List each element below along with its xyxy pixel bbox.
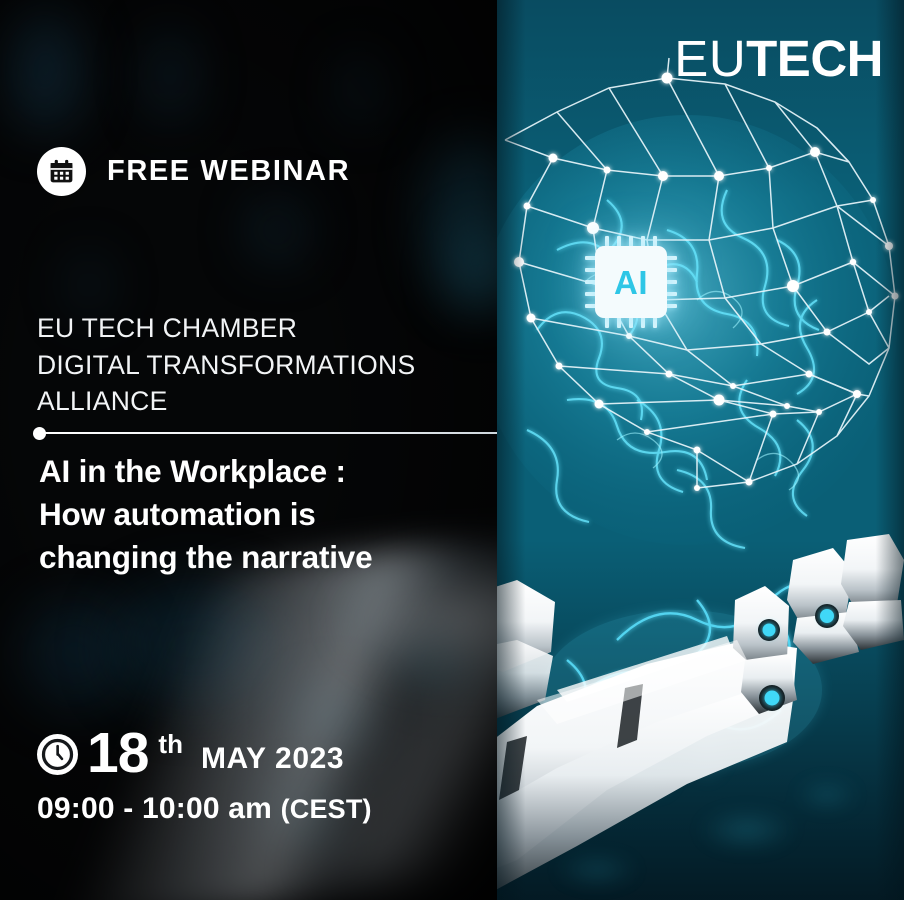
left-panel: FREE WEBINAR EU TECH CHAMBER DIGITAL TRA… <box>0 0 497 900</box>
organizer-line-2: DIGITAL TRANSFORMATIONS <box>37 347 415 384</box>
title-divider <box>33 425 497 441</box>
ai-microchip-icon: AI <box>585 236 677 328</box>
title-line-3: changing the narrative <box>39 536 372 579</box>
event-day-suffix: th <box>158 731 183 757</box>
divider-line <box>45 432 497 434</box>
event-timezone: (CEST) <box>281 794 372 824</box>
title-line-1: AI in the Workplace : <box>39 450 372 493</box>
free-webinar-label: FREE WEBINAR <box>107 155 350 188</box>
page-title: AI in the Workplace : How automation is … <box>39 450 372 579</box>
organizer-name: EU TECH CHAMBER DIGITAL TRANSFORMATIONS … <box>37 310 415 420</box>
event-time: 09:00 - 10:00 am (CEST) <box>37 792 372 826</box>
right-panel: AI <box>497 0 904 900</box>
title-line-2: How automation is <box>39 493 372 536</box>
right-edge-shade <box>497 0 904 900</box>
date-row: 18 th MAY 2023 <box>37 727 372 779</box>
organizer-line-1: EU TECH CHAMBER <box>37 310 415 347</box>
schedule-block: 18 th MAY 2023 09:00 - 10:00 am (CEST) <box>37 727 372 826</box>
event-time-range: 09:00 - 10:00 am <box>37 792 272 825</box>
eutech-logo: EUTECH <box>674 29 883 88</box>
clock-icon <box>37 734 78 775</box>
event-month-year: MAY 2023 <box>201 742 344 776</box>
organizer-line-3: ALLIANCE <box>37 383 415 420</box>
chip-label: AI <box>614 266 648 299</box>
calendar-icon <box>37 147 86 196</box>
webinar-poster: FREE WEBINAR EU TECH CHAMBER DIGITAL TRA… <box>0 0 904 900</box>
logo-tech-text: TECH <box>746 30 883 87</box>
free-webinar-badge: FREE WEBINAR <box>37 147 350 196</box>
logo-eu-text: EU <box>674 30 746 87</box>
event-day: 18 <box>87 727 148 779</box>
chip-body: AI <box>595 246 667 318</box>
